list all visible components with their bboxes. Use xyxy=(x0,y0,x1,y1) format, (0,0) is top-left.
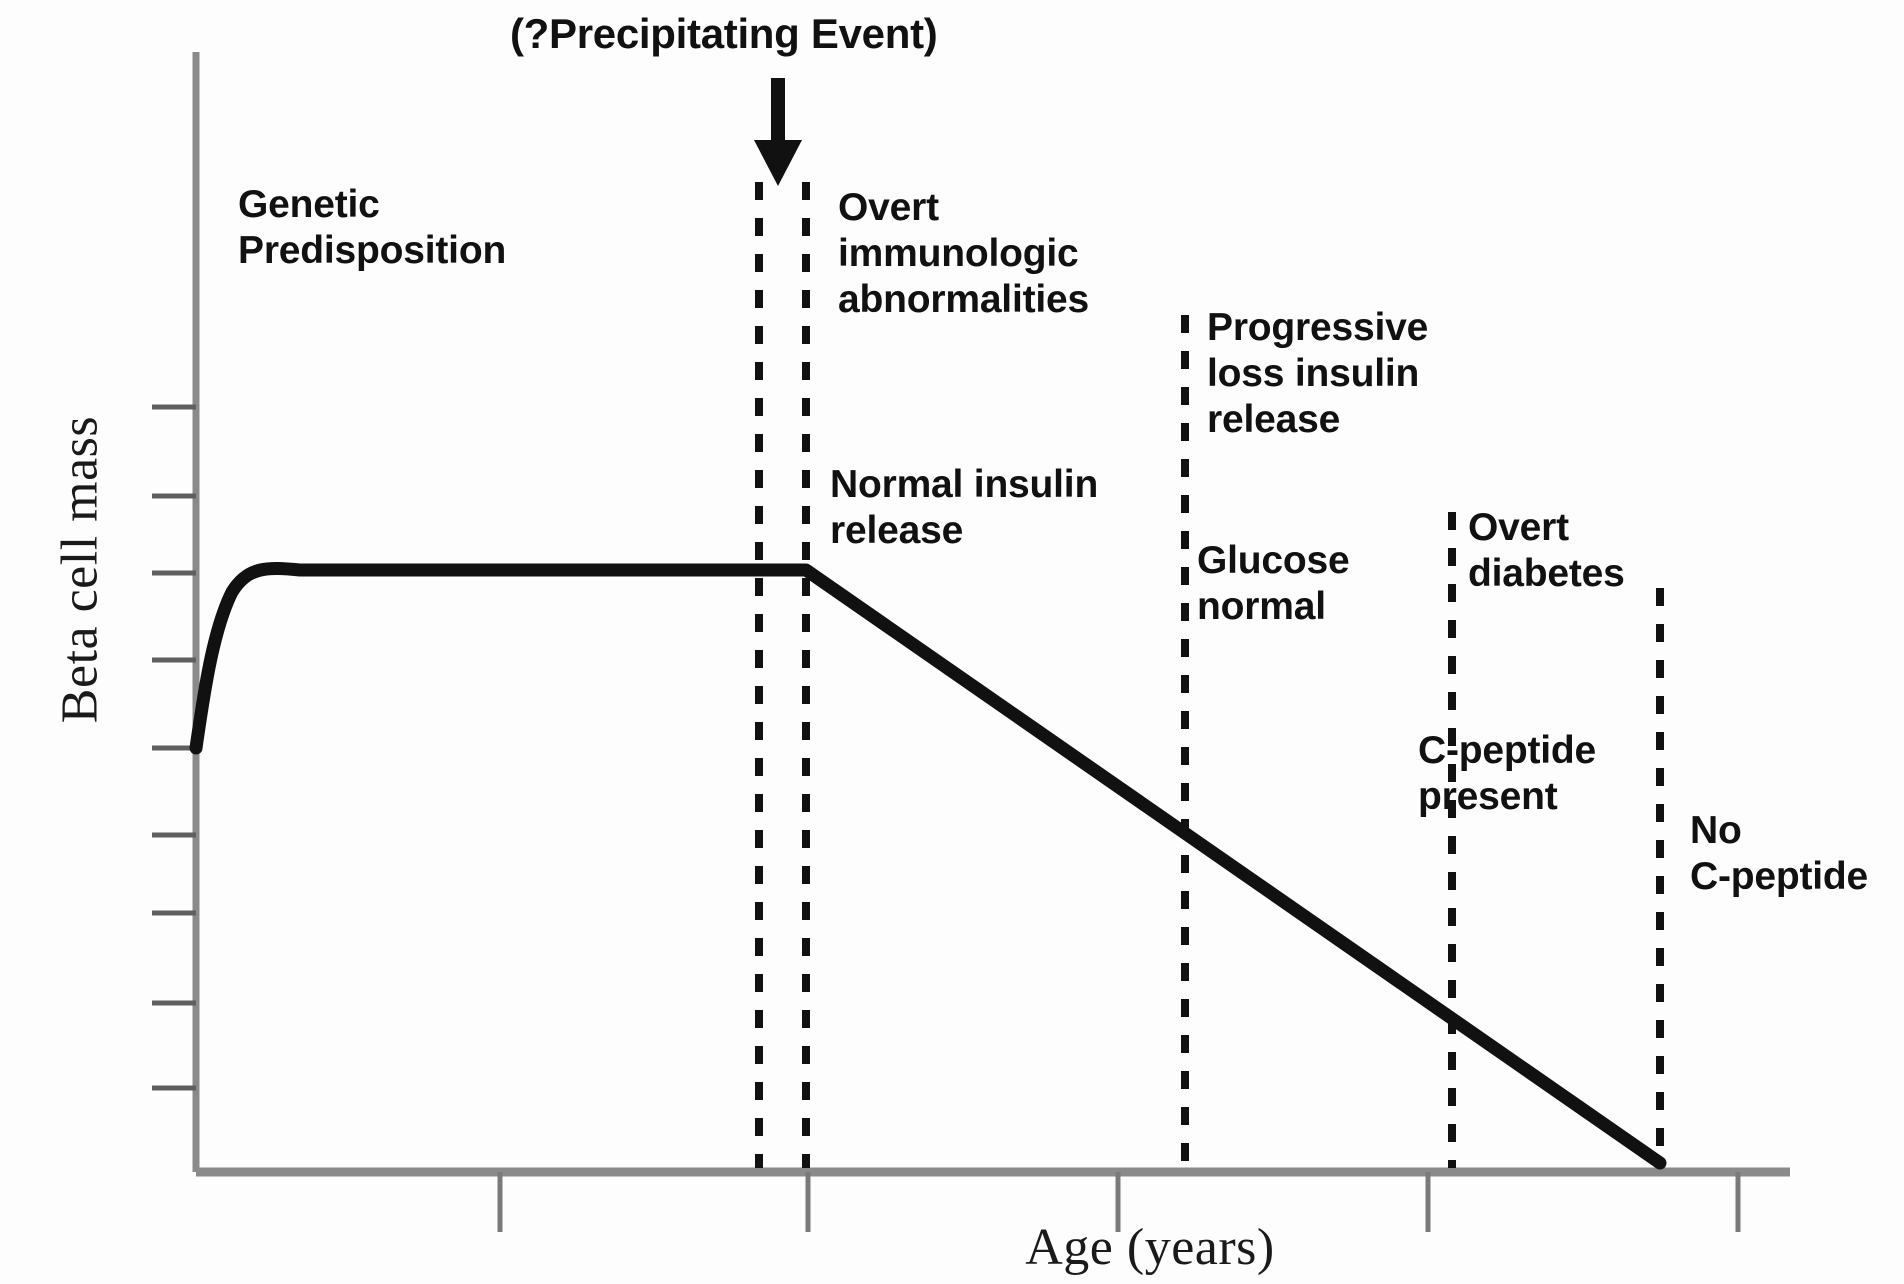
chart-figure: (?Precipitating Event) xyxy=(0,0,1904,1284)
annotation-overt-diabetes: Overt diabetes xyxy=(1468,505,1625,597)
x-axis-title: Age (years) xyxy=(830,1218,1470,1277)
annotation-overt-immunologic: Overt immunologic abnormalities xyxy=(838,185,1089,323)
y-axis-ticks xyxy=(152,407,196,1088)
y-axis-title: Beta cell mass xyxy=(51,380,110,760)
annotation-glucose-normal: Glucose normal xyxy=(1197,538,1350,630)
annotation-c-peptide-present: C-peptide present xyxy=(1418,728,1596,820)
annotation-normal-insulin-release: Normal insulin release xyxy=(830,462,1098,554)
annotation-genetic-predisposition: Genetic Predisposition xyxy=(238,182,506,274)
annotation-progressive-loss-insulin: Progressive loss insulin release xyxy=(1207,305,1428,443)
annotation-no-c-peptide: No C-peptide xyxy=(1690,808,1868,900)
precipitating-event-arrow xyxy=(754,78,802,186)
beta-cell-mass-curve xyxy=(196,568,1660,1163)
